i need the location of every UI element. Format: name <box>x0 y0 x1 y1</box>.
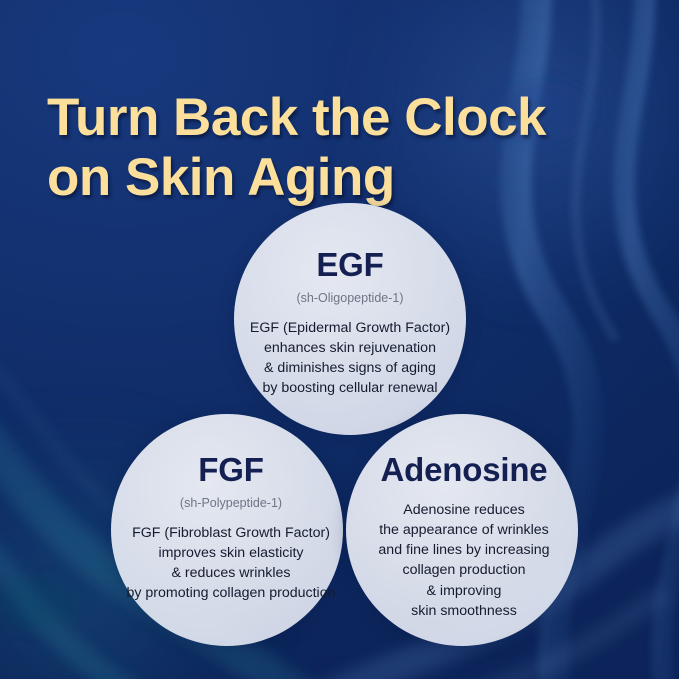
venn-label-adenosine: Adenosine Adenosine reduces the appearan… <box>348 453 580 621</box>
venn-label-fgf: FGF (sh-Polypeptide-1) FGF (Fibroblast G… <box>106 453 356 603</box>
venn-subtitle-egf: (sh-Oligopeptide-1) <box>227 292 473 305</box>
venn-label-egf: EGF (sh-Oligopeptide-1) EGF (Epidermal G… <box>227 248 473 398</box>
venn-subtitle-fgf: (sh-Polypeptide-1) <box>106 497 356 510</box>
venn-body-line: enhances skin rejuvenation <box>227 338 473 358</box>
venn-title-egf: EGF <box>227 248 473 281</box>
venn-body-fgf: FGF (Fibroblast Growth Factor) improves … <box>106 523 356 604</box>
venn-title-adenosine: Adenosine <box>348 453 580 486</box>
venn-body-line: improves skin elasticity <box>106 543 356 563</box>
venn-body-line: FGF (Fibroblast Growth Factor) <box>106 523 356 543</box>
venn-body-egf: EGF (Epidermal Growth Factor) enhances s… <box>227 318 473 399</box>
skincare-ingredient-poster: Turn Back the Clock on Skin Aging EGF (s… <box>0 0 679 679</box>
venn-body-line: skin smoothness <box>348 601 580 621</box>
venn-body-line: the appearance of wrinkles <box>348 520 580 540</box>
venn-body-line: by boosting cellular renewal <box>227 378 473 398</box>
venn-body-line: and fine lines by increasing <box>348 540 580 560</box>
venn-body-line: collagen production <box>348 560 580 580</box>
venn-body-adenosine: Adenosine reduces the appearance of wrin… <box>348 500 580 621</box>
venn-body-line: by promoting collagen production <box>106 583 356 603</box>
venn-body-line: & reduces wrinkles <box>106 563 356 583</box>
venn-diagram: EGF (sh-Oligopeptide-1) EGF (Epidermal G… <box>0 0 679 679</box>
venn-body-line: Adenosine reduces <box>348 500 580 520</box>
venn-body-line: EGF (Epidermal Growth Factor) <box>227 318 473 338</box>
venn-body-line: & improving <box>348 581 580 601</box>
venn-title-fgf: FGF <box>106 453 356 486</box>
venn-body-line: & diminishes signs of aging <box>227 358 473 378</box>
